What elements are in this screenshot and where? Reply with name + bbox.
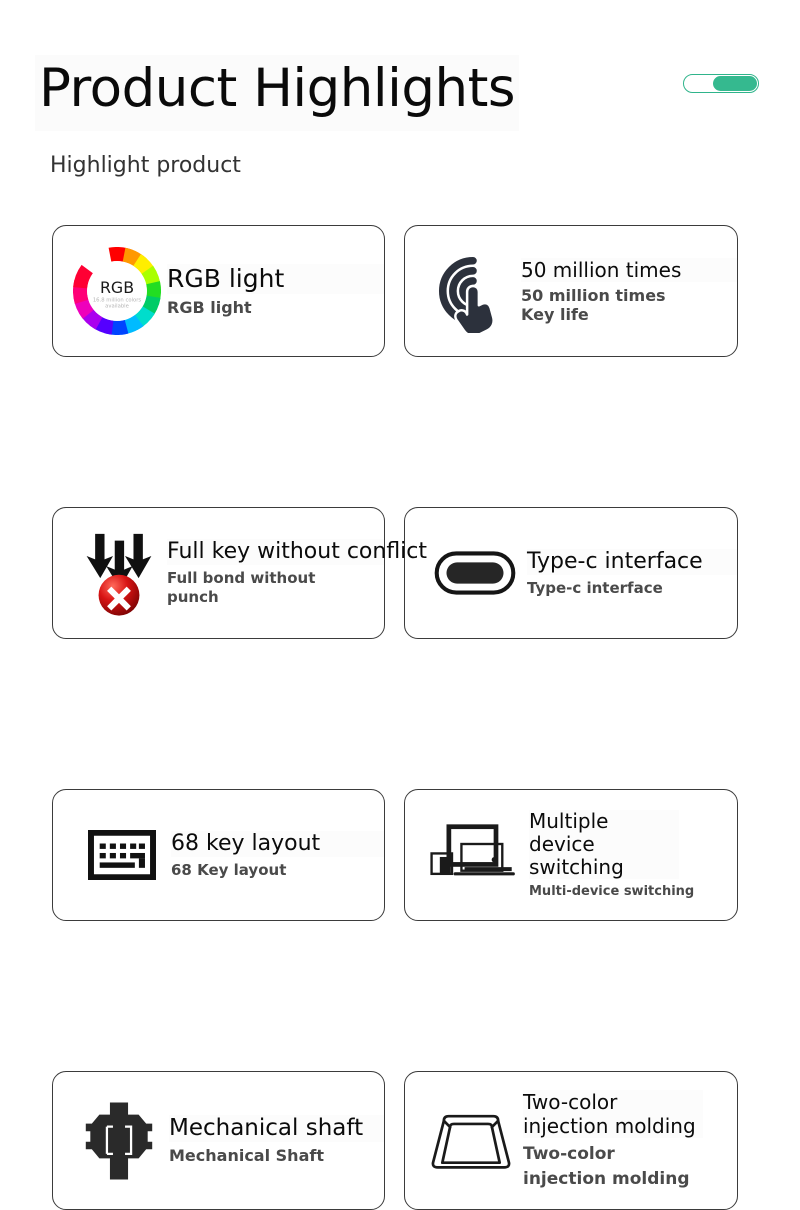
card-subtitle: Type-c interface <box>527 579 737 598</box>
card-subtitle: RGB light <box>167 298 384 318</box>
card-title: 68 key layout <box>171 831 384 857</box>
type-c-connector-icon <box>423 551 527 595</box>
svg-text:available: available <box>105 304 129 310</box>
card-text: Type-c interface Type-c interface <box>527 549 737 598</box>
anti-ghosting-arrows-icon <box>71 527 167 619</box>
multi-device-icon <box>419 822 529 888</box>
card-text: 68 key layout 68 Key layout <box>171 831 384 880</box>
card-title: Type-c interface <box>527 549 737 575</box>
rgb-color-wheel-icon: RGB 16.8 million colors available <box>67 247 167 335</box>
highlights-row: Mechanical shaft Mechanical Shaft Two-co… <box>52 1071 738 1210</box>
highlight-card-multi-device[interactable]: Multiple device switching Multi-device s… <box>404 789 738 921</box>
card-text: 50 million times 50 million times Key li… <box>521 258 737 324</box>
card-title: Multiple device switching <box>529 810 679 879</box>
highlight-card-rgb-light[interactable]: RGB 16.8 million colors available RGB li… <box>52 225 385 357</box>
card-title: 50 million times <box>521 258 737 282</box>
card-title: RGB light <box>167 264 384 294</box>
card-subtitle: Mechanical Shaft <box>169 1146 384 1166</box>
highlights-row: RGB 16.8 million colors available RGB li… <box>52 225 738 357</box>
highlights-row: 68 key layout 68 Key layout <box>52 789 738 921</box>
page-title: Product Highlights <box>35 55 519 131</box>
card-subtitle: 50 million times Key life <box>521 286 737 324</box>
page-header: Product Highlights Highlight product <box>0 0 800 200</box>
card-subtitle: Full bond without punch <box>167 569 327 607</box>
highlight-card-type-c[interactable]: Type-c interface Type-c interface <box>404 507 738 639</box>
card-subtitle: 68 Key layout <box>171 861 384 880</box>
highlight-card-anti-ghosting[interactable]: Full key without conflict Full bond with… <box>52 507 385 639</box>
highlight-card-two-color-molding[interactable]: Two-color injection molding Two-color in… <box>404 1071 738 1210</box>
card-title: Mechanical shaft <box>169 1115 384 1142</box>
keyboard-icon <box>73 830 171 880</box>
card-title: Two-color injection molding <box>523 1090 703 1138</box>
tap-touch-icon <box>425 249 521 333</box>
card-subtitle: Multi-device switching <box>529 883 737 900</box>
highlights-grid: RGB 16.8 million colors available RGB li… <box>52 225 738 760</box>
card-title: Full key without conflict <box>167 539 384 565</box>
card-text: Mechanical shaft Mechanical Shaft <box>169 1115 384 1166</box>
page-subtitle: Highlight product <box>50 152 241 180</box>
rgb-wheel-caption: RGB <box>100 278 134 297</box>
svg-text:16.8 million colors: 16.8 million colors <box>93 298 142 304</box>
card-text: Two-color injection molding Two-color in… <box>523 1090 737 1192</box>
highlights-row: Full key without conflict Full bond with… <box>52 507 738 639</box>
highlight-card-mechanical-shaft[interactable]: Mechanical shaft Mechanical Shaft <box>52 1071 385 1210</box>
keycap-icon <box>419 1110 523 1172</box>
mechanical-switch-icon <box>69 1101 169 1181</box>
highlight-toggle[interactable] <box>683 74 759 93</box>
card-text: Multiple device switching Multi-device s… <box>529 810 737 900</box>
card-text: RGB light RGB light <box>167 264 384 318</box>
card-subtitle: Two-color injection molding <box>523 1142 693 1192</box>
highlight-card-68-key-layout[interactable]: 68 key layout 68 Key layout <box>52 789 385 921</box>
toggle-knob <box>713 76 757 91</box>
highlight-card-key-life[interactable]: 50 million times 50 million times Key li… <box>404 225 738 357</box>
card-text: Full key without conflict Full bond with… <box>167 539 384 607</box>
